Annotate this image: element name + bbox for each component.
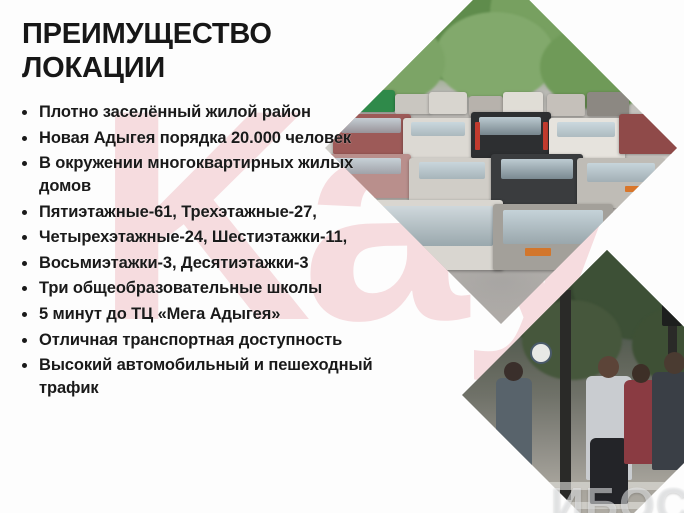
presentation-slide: Kay <box>0 0 684 513</box>
list-item: Три общеобразовательные школы <box>22 277 400 300</box>
list-item: В окружении многоквартирных жилых домов <box>22 152 400 197</box>
list-item: 5 минут до ТЦ «Мега Адыгея» <box>22 303 400 326</box>
page-title: ПРЕИМУЩЕСТВО ЛОКАЦИИ <box>22 18 400 85</box>
list-item: Отличная транспортная доступность <box>22 329 400 352</box>
list-item: Восьмиэтажки-3, Десятиэтажки-3 <box>22 252 400 275</box>
bottom-watermark: ИБОС <box>551 477 684 513</box>
advantages-list: Плотно заселённый жилой район Новая Адыг… <box>22 101 400 399</box>
list-item: Пятиэтажные-61, Трехэтажные-27, <box>22 201 400 224</box>
list-item: Плотно заселённый жилой район <box>22 101 400 124</box>
list-item: Высокий автомобильный и пешеходный трафи… <box>22 354 400 399</box>
slide-content: ПРЕИМУЩЕСТВО ЛОКАЦИИ Плотно заселённый ж… <box>0 0 400 399</box>
list-item: Четырехэтажные-24, Шестиэтажки-11, <box>22 226 400 249</box>
list-item: Новая Адыгея порядка 20.000 человек <box>22 127 400 150</box>
